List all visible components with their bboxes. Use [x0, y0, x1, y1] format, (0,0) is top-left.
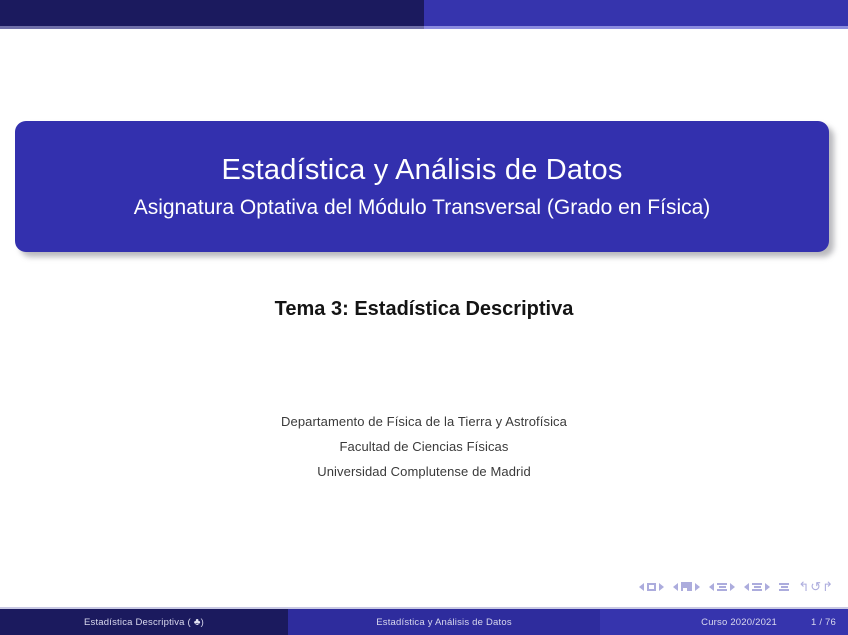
affiliation-line-faculty: Facultad de Ciencias Físicas [0, 434, 848, 459]
affiliation-line-university: Universidad Complutense de Madrid [0, 459, 848, 484]
nav-frame-group[interactable] [673, 582, 700, 591]
previous-subsection-icon[interactable] [709, 583, 714, 591]
section-icon[interactable] [752, 583, 762, 591]
previous-frame-icon[interactable] [673, 583, 678, 591]
beamer-navigation-symbols[interactable]: ↰↺↱ [639, 580, 834, 593]
footer-author-label: (♣) [185, 617, 204, 628]
affiliation-block: Departamento de Física de la Tierra y As… [0, 409, 848, 484]
footer-center-segment: Estadística y Análisis de Datos [288, 609, 600, 635]
footer-page-number: 1 / 76 [811, 617, 836, 628]
history-arrows-icon[interactable]: ↰↺↱ [798, 580, 834, 593]
subsection-icon[interactable] [717, 583, 727, 591]
next-section-icon[interactable] [765, 583, 770, 591]
presentation-title: Estadística y Análisis de Datos [221, 152, 622, 190]
presentation-slide: Estadística y Análisis de Datos Asignatu… [0, 0, 848, 635]
footer-left-segment: Estadística Descriptiva (♣) [0, 609, 288, 635]
frame-icon[interactable] [681, 582, 692, 591]
nav-subsection-group[interactable] [709, 583, 735, 591]
topic-heading: Tema 3: Estadística Descriptiva [0, 298, 848, 321]
next-frame-icon[interactable] [695, 583, 700, 591]
header-bar-left [0, 0, 424, 26]
footer-course: Curso 2020/2021 [701, 617, 777, 628]
header-bar-right [424, 0, 848, 26]
clover-icon: ♣ [194, 617, 201, 628]
header-underline-right [424, 26, 848, 29]
slide-icon[interactable] [647, 583, 656, 591]
footer-bar: Estadística Descriptiva (♣) Estadística … [0, 609, 848, 635]
title-box: Estadística y Análisis de Datos Asignatu… [15, 121, 829, 252]
next-subsection-icon[interactable] [730, 583, 735, 591]
nav-slide-group[interactable] [639, 583, 664, 591]
next-slide-icon[interactable] [659, 583, 664, 591]
presentation-subtitle: Asignatura Optativa del Módulo Transvers… [134, 191, 711, 221]
document-icon[interactable] [779, 583, 789, 591]
footer-right-segment: Curso 2020/2021 1 / 76 [600, 609, 848, 635]
nav-section-group[interactable] [744, 583, 770, 591]
footer-short-title: Estadística Descriptiva [84, 617, 185, 628]
affiliation-line-department: Departamento de Física de la Tierra y As… [0, 409, 848, 434]
header-underline-left [0, 26, 424, 29]
previous-slide-icon[interactable] [639, 583, 644, 591]
previous-section-icon[interactable] [744, 583, 749, 591]
footer-full-title: Estadística y Análisis de Datos [376, 617, 512, 628]
